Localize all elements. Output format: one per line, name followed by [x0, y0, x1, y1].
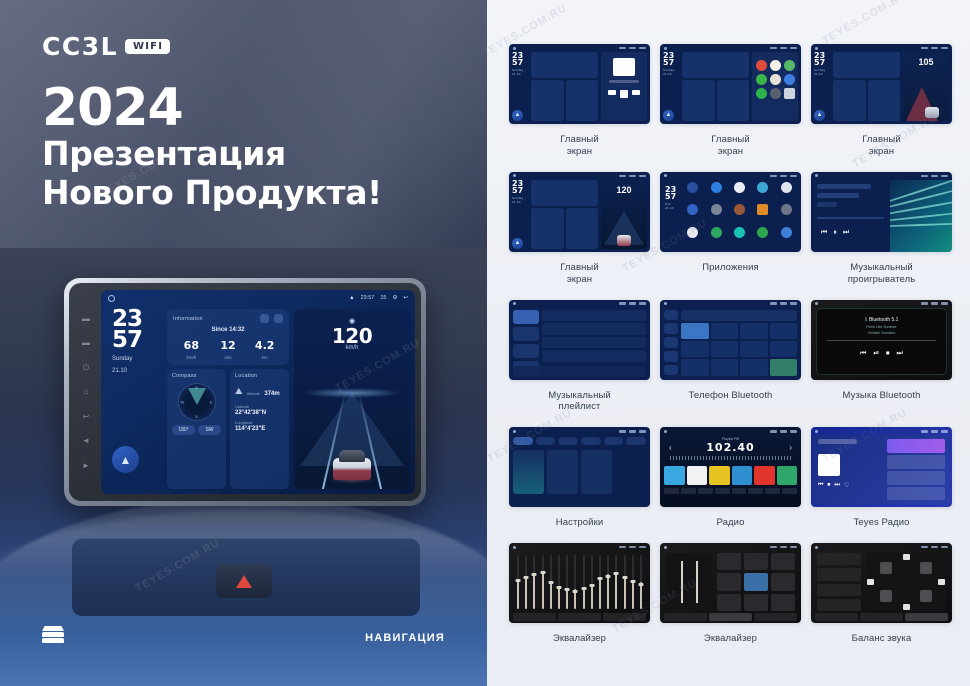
equalizer-band[interactable]: [613, 553, 619, 611]
thumbnail-home-road[interactable]: 2357Sunday21.10 120 ▲: [509, 172, 650, 252]
gallery-item-label: Радио: [660, 507, 801, 543]
gallery-item-label: Настройки: [509, 507, 650, 543]
bluetooth-icon: ᛒ: [865, 317, 868, 323]
balance-right-button[interactable]: [938, 579, 945, 585]
hero-footer-label: НАВИГАЦИЯ: [365, 632, 445, 644]
gallery-item-label: Эквалайзер: [660, 623, 801, 659]
screen-content: 23 57 Sunday 21.10 ▲ Information: [101, 306, 415, 494]
presentation-slide: CC3L WIFI 2024 Презентация Нового Продук…: [0, 0, 970, 686]
thumbnail-teyes-radio[interactable]: ⏮ ⏹ ⏭ ♡: [811, 427, 952, 507]
head-unit-body: ▬ ▬ ⏻ ⌂ ↩ ◄ ► ▲: [69, 283, 421, 501]
wifi-icon: ▲: [349, 295, 354, 301]
thumbnail-apps[interactable]: 2357Sun21.10: [660, 172, 801, 252]
volume-level: 15: [380, 295, 386, 301]
location-title: Location: [235, 373, 284, 379]
equalizer-band[interactable]: [621, 553, 627, 611]
bt-track-title: Feels Like Summer: [817, 325, 946, 329]
navigation-fab[interactable]: ▲: [112, 446, 139, 473]
hazard-light-button[interactable]: [216, 564, 272, 598]
equalizer-band[interactable]: [548, 553, 554, 611]
equalizer-band[interactable]: [581, 553, 587, 611]
thumbnail-settings[interactable]: [509, 427, 650, 507]
clock-minutes: 57: [112, 330, 162, 351]
gallery-item[interactable]: Эквалайзер: [660, 543, 801, 659]
stop-icon[interactable]: ⏹: [827, 482, 830, 489]
equalizer-band[interactable]: [523, 553, 529, 611]
gallery-item[interactable]: Музыкальный плейлист: [509, 300, 650, 428]
equalizer-band[interactable]: [564, 553, 570, 611]
balance-down-button[interactable]: [903, 604, 910, 610]
thumbnail-home-drive[interactable]: 2357Sunday21.10 105 ▲: [811, 44, 952, 124]
next-station-icon[interactable]: ›: [789, 443, 792, 452]
screens-grid: 2357Sunday21.10 ▲: [509, 44, 952, 659]
information-card[interactable]: Information Since 14:32: [167, 309, 289, 365]
status-bar: ▲ 23:57 15 ⚙ ↩: [101, 290, 415, 306]
latitude-value: 22°42'38"N: [235, 410, 284, 416]
clock-widget: 23 57 Sunday 21.10 ▲: [106, 309, 162, 489]
equalizer-band[interactable]: [589, 553, 595, 611]
expand-icon[interactable]: [274, 314, 283, 323]
hero-panel: CC3L WIFI 2024 Презентация Нового Продук…: [0, 0, 487, 686]
thumbnail-speed-value: 120: [601, 185, 647, 195]
thumbnail-equalizer-2[interactable]: [660, 543, 801, 623]
compass-south: S: [195, 414, 198, 419]
gallery-item-label: Главный экран: [811, 124, 952, 172]
gallery-item[interactable]: 2357Sunday21.10 ▲: [509, 44, 650, 172]
thumbnail-music-player[interactable]: ⏮⏸⏭: [811, 172, 952, 252]
longitude-value: 114°4'23"E: [235, 426, 284, 432]
gallery-item-label: Эквалайзер: [509, 623, 650, 659]
compass-east: E: [210, 400, 213, 405]
screens-gallery: 2357Sunday21.10 ▲: [487, 0, 970, 686]
gallery-item[interactable]: Настройки: [509, 427, 650, 543]
compass-west: W: [181, 400, 185, 405]
compass-dial: N S E W: [178, 383, 216, 421]
thumbnail-speed-value: 105: [903, 57, 949, 67]
equalizer-band[interactable]: [597, 553, 603, 611]
previous-station-icon[interactable]: ‹: [669, 443, 672, 452]
altitude-value: 374m: [264, 391, 279, 397]
gallery-item-label: Главный экран: [509, 124, 650, 172]
mountain-icon: ⛰: [235, 386, 243, 397]
equalizer-band[interactable]: [605, 553, 611, 611]
compass-title: Compass: [172, 373, 221, 379]
location-card[interactable]: Location ⛰ Altitude 374m: [230, 369, 289, 489]
eq-icon[interactable]: ▬: [82, 339, 90, 347]
next-icon[interactable]: ⏭: [897, 350, 903, 358]
equalizer-band[interactable]: [515, 553, 521, 611]
back-icon[interactable]: ↩: [403, 295, 408, 301]
stop-icon[interactable]: ⏹: [886, 350, 890, 358]
balance-pad[interactable]: [866, 553, 946, 611]
gallery-item-label: Музыка Bluetooth: [811, 380, 952, 416]
hazard-triangle-icon: [236, 575, 252, 588]
product-logo: CC3L WIFI: [42, 32, 170, 61]
equalizer-band[interactable]: [556, 553, 562, 611]
refresh-icon[interactable]: [260, 314, 269, 323]
stat-speed: 68 km/h: [173, 336, 210, 360]
gallery-item[interactable]: ᛒ Bluetooth 5.1 Feels Like Summer Childi…: [811, 300, 952, 428]
thumbnail-equalizer[interactable]: [509, 543, 650, 623]
balance-left-button[interactable]: [867, 579, 874, 585]
gallery-item-label: Телефон Bluetooth: [660, 380, 801, 416]
equalizer-band[interactable]: [630, 553, 636, 611]
widgets-column: Information Since 14:32: [167, 309, 289, 489]
thumbnail-bluetooth-music[interactable]: ᛒ Bluetooth 5.1 Feels Like Summer Childi…: [811, 300, 952, 380]
equalizer-band[interactable]: [531, 553, 537, 611]
bt-track-artist: Childish Gambino: [817, 331, 946, 335]
gallery-item[interactable]: 2357Sunday21.10 105 ▲ Главный экран: [811, 44, 952, 172]
gallery-item-label: Teyes Радио: [811, 507, 952, 543]
information-title: Information: [173, 316, 203, 322]
thumbnail-home-media[interactable]: 2357Sunday21.10 ▲: [509, 44, 650, 124]
clock-date: 21.10: [112, 367, 162, 375]
compass-direction: SW: [198, 425, 221, 435]
hero-year: 2024: [42, 82, 382, 135]
watermark: TEYES.COM.RU: [820, 0, 909, 47]
volume-down-icon[interactable]: ◄: [82, 437, 90, 445]
gallery-item[interactable]: Playlist FM ‹ 102.40 ›: [660, 427, 801, 543]
next-icon[interactable]: ⏭: [834, 482, 839, 489]
gallery-item[interactable]: Баланс звука: [811, 543, 952, 659]
wifi-badge: WIFI: [125, 39, 170, 54]
speed-unit: km/h: [294, 345, 410, 351]
thumbnail-home-apps[interactable]: 2357Sunday21.10: [660, 44, 801, 124]
status-time: 23:57: [361, 295, 375, 301]
longitude-label: Longitude: [235, 420, 284, 425]
power-icon[interactable]: ⏻: [83, 364, 89, 372]
thumbnail-bluetooth-phone[interactable]: [660, 300, 801, 380]
favorite-icon[interactable]: ♡: [844, 482, 849, 489]
equalizer-band[interactable]: [638, 553, 644, 611]
gallery-item[interactable]: 2357Sun21.10: [660, 172, 801, 300]
play-icon[interactable]: ⏯: [873, 350, 879, 358]
home-indicator-icon[interactable]: [108, 295, 115, 302]
page-title: 2024 Презентация Нового Продукта!: [42, 82, 382, 213]
drive-view-widget[interactable]: ◉ 120 km/h: [294, 309, 410, 489]
equalizer-band[interactable]: [572, 553, 578, 611]
clock-day: Sunday: [112, 355, 162, 363]
equalizer-band[interactable]: [540, 553, 546, 611]
head-unit-screen[interactable]: ▲ 23:57 15 ⚙ ↩ 23 57 Sunday: [101, 290, 415, 494]
compass-needle-icon: [188, 388, 206, 405]
gallery-item-label: Музыкальный проигрыватель: [811, 252, 952, 300]
back-icon[interactable]: ↩: [83, 413, 90, 421]
since-label: Since 14:32: [173, 327, 283, 333]
altitude-label: Altitude: [247, 391, 260, 396]
logo-text: CC3L: [42, 32, 118, 61]
previous-icon[interactable]: ⏮: [860, 350, 866, 358]
gallery-item-label: Главный экран: [660, 124, 801, 172]
gallery-item[interactable]: ⏮ ⏹ ⏭ ♡ Teyes Радио: [811, 427, 952, 543]
layers-icon: [42, 626, 64, 644]
compass-heading: 180°: [172, 425, 195, 435]
latitude-label: Latitude: [235, 404, 284, 409]
gallery-item[interactable]: 2357Sunday21.10 120 ▲ Главный экран: [509, 172, 650, 300]
thumbnail-sound-balance[interactable]: [811, 543, 952, 623]
gallery-item-label: Приложения: [660, 252, 801, 288]
gallery-item[interactable]: 2357Sunday21.10: [660, 44, 801, 172]
car-dashboard-photo: ▬ ▬ ⏻ ⌂ ↩ ◄ ► ▲: [0, 248, 487, 686]
home-icon[interactable]: ⌂: [84, 388, 89, 396]
thumbnail-playlist[interactable]: [509, 300, 650, 380]
gallery-item[interactable]: Эквалайзер: [509, 543, 650, 659]
compass-north: N: [195, 385, 198, 390]
bt-version-label: Bluetooth 5.1: [869, 317, 898, 323]
gallery-item[interactable]: ⏮⏸⏭ Музыкальный проигрыватель: [811, 172, 952, 300]
gallery-item-label: Главный экран: [509, 252, 650, 300]
compass-card[interactable]: Compass N S E W: [167, 369, 226, 489]
gallery-item-label: Баланс звука: [811, 623, 952, 659]
thumbnail-radio[interactable]: Playlist FM ‹ 102.40 ›: [660, 427, 801, 507]
volume-up-icon[interactable]: ►: [82, 462, 90, 470]
stat-distance: 4.2 km: [246, 336, 283, 360]
gallery-item[interactable]: Телефон Bluetooth: [660, 300, 801, 428]
car-3d-model: [330, 446, 374, 480]
previous-icon[interactable]: ⏮: [818, 482, 823, 489]
mute-icon[interactable]: ▬: [82, 315, 90, 323]
hero-line-2: Нового Продукта!: [42, 174, 382, 213]
hero-line-1: Презентация: [42, 135, 382, 174]
gallery-item-label: Музыкальный плейлист: [509, 380, 650, 428]
gear-icon[interactable]: ⚙: [392, 295, 397, 301]
balance-up-button[interactable]: [903, 554, 910, 560]
stat-time: 12 min: [210, 336, 247, 360]
trip-stats: 68 km/h 12 min 4.2: [173, 336, 283, 360]
head-unit-bezel: ▬ ▬ ⏻ ⌂ ↩ ◄ ► ▲: [64, 278, 426, 506]
hardware-button-rail[interactable]: ▬ ▬ ⏻ ⌂ ↩ ◄ ►: [76, 290, 96, 494]
radio-frequency: 102.40: [706, 441, 754, 454]
